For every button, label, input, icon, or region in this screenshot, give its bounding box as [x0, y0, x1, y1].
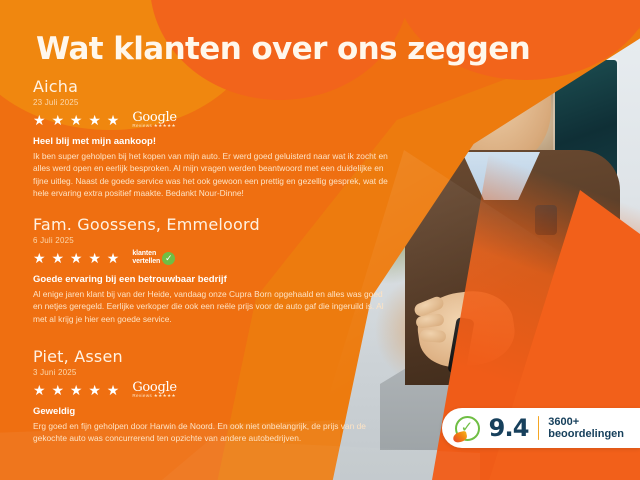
review-card: Piet, Assen 3 Juni 2025 ★ ★ ★ ★ ★ Google…: [33, 348, 403, 445]
badge-divider: [538, 416, 540, 440]
star-rating-icon: ★ ★ ★ ★ ★: [33, 383, 120, 397]
review-body: Ik ben super geholpen bij het kopen van …: [33, 150, 391, 200]
review-meta: ★ ★ ★ ★ ★ Google Reviews ★★★★★: [33, 382, 403, 398]
content-layer: Wat klanten over ons zeggen Aicha 23 Jul…: [0, 0, 640, 480]
klantenvertellen-line-1: klanten: [132, 250, 160, 258]
review-body: Al enige jaren klant bij van der Heide, …: [33, 288, 391, 325]
rating-score: 9.4: [489, 414, 529, 442]
review-headline: Heel blij met mijn aankoop!: [33, 136, 403, 147]
review-count: 3600+: [548, 416, 624, 428]
google-logo: Google Reviews ★★★★★: [132, 381, 176, 399]
review-date: 23 Juli 2025: [33, 97, 403, 109]
review-meta: ★ ★ ★ ★ ★ klanten vertellen ✓: [33, 250, 403, 266]
review-card: Fam. Goossens, Emmeloord 6 Juli 2025 ★ ★…: [33, 216, 403, 325]
review-meta: ★ ★ ★ ★ ★ Google Reviews ★★★★★: [33, 112, 403, 128]
klantenvertellen-line-2: vertellen: [132, 258, 160, 266]
klantenvertellen-wordmark: klanten vertellen: [132, 250, 160, 266]
review-card: Aicha 23 Juli 2025 ★ ★ ★ ★ ★ Google Revi…: [33, 78, 403, 200]
review-count-block: 3600+ beoordelingen: [548, 416, 624, 440]
logo-swoosh: [452, 430, 468, 443]
star-rating-icon: ★ ★ ★ ★ ★: [33, 251, 120, 265]
review-date: 3 Juni 2025: [33, 367, 403, 379]
check-circle-icon: ✓: [162, 252, 175, 265]
klantenvertellen-logo: klanten vertellen ✓: [132, 250, 175, 266]
review-body: Erg goed en fijn geholpen door Harwin de…: [33, 420, 391, 445]
google-reviews-label: Reviews ★★★★★: [132, 124, 176, 129]
page-title: Wat klanten over ons zeggen: [36, 31, 530, 67]
review-count-label: beoordelingen: [548, 428, 624, 440]
review-author: Piet, Assen: [33, 348, 403, 366]
rating-badge[interactable]: ✓ 9.4 3600+ beoordelingen: [442, 408, 640, 448]
klantenvertellen-check-icon: ✓: [455, 416, 480, 441]
review-author: Aicha: [33, 78, 403, 96]
review-date: 6 Juli 2025: [33, 235, 403, 247]
review-author: Fam. Goossens, Emmeloord: [33, 216, 403, 234]
review-headline: Geweldig: [33, 406, 403, 417]
google-logo: Google Reviews ★★★★★: [132, 111, 176, 129]
google-reviews-label: Reviews ★★★★★: [132, 394, 176, 399]
testimonial-banner: VDH Wat klanten over ons zeggen Aicha 23…: [0, 0, 640, 480]
star-rating-icon: ★ ★ ★ ★ ★: [33, 113, 120, 127]
review-headline: Goede ervaring bij een betrouwbaar bedri…: [33, 274, 403, 285]
